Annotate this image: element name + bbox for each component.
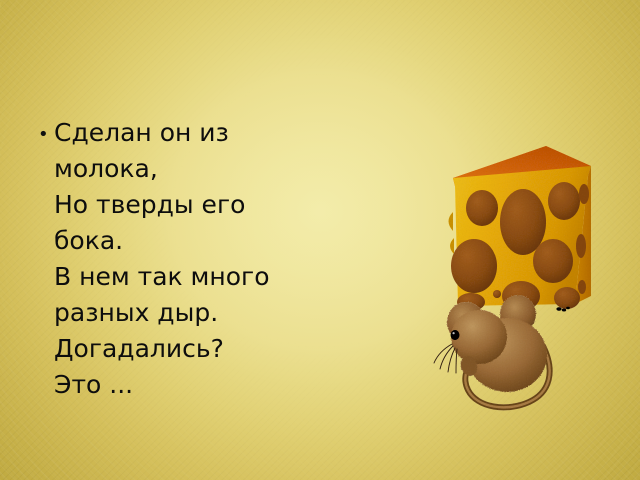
- mouse: [434, 295, 550, 407]
- riddle-line: Сделан он из: [54, 115, 308, 151]
- mouse-whiskers: [434, 344, 457, 373]
- cheese-left-notch: [449, 212, 454, 231]
- riddle-lines: Сделан он из молока, Но тверды его бока.…: [54, 115, 308, 403]
- bulleted-paragraph: • Сделан он из молока, Но тверды его бок…: [38, 115, 308, 403]
- riddle-text-block[interactable]: • Сделан он из молока, Но тверды его бок…: [38, 115, 308, 403]
- cheese-hole-side: [576, 234, 586, 258]
- cheese-wedge: [449, 146, 592, 312]
- bullet-icon: •: [38, 126, 54, 144]
- cheese-hole-side: [579, 184, 589, 204]
- cheese-and-mouse-illustration: [425, 130, 625, 430]
- mouse-eye: [451, 330, 460, 340]
- mouse-head: [451, 310, 507, 364]
- cheese-hole: [533, 239, 573, 283]
- cheese-hole-side: [578, 280, 586, 294]
- riddle-line: Догадались?: [54, 331, 308, 367]
- cheese-hole-small: [493, 290, 501, 298]
- riddle-line: разных дыр.: [54, 295, 308, 331]
- slide-canvas: • Сделан он из молока, Но тверды его бок…: [0, 0, 640, 480]
- riddle-line: Но тверды его: [54, 187, 308, 223]
- cheese-left-notch: [450, 238, 454, 254]
- cheese-hole: [500, 189, 546, 255]
- cheese-hole: [451, 239, 497, 293]
- cheese-hole: [554, 287, 580, 309]
- cheese-hole: [466, 190, 498, 226]
- riddle-line: бока.: [54, 223, 308, 259]
- riddle-line: молока,: [54, 151, 308, 187]
- illustration-svg: [425, 130, 625, 430]
- riddle-line: В нем так много: [54, 259, 308, 295]
- mouse-eye-glint: [452, 332, 454, 334]
- cheese-hole: [548, 182, 580, 220]
- riddle-line: Это ...: [54, 367, 308, 403]
